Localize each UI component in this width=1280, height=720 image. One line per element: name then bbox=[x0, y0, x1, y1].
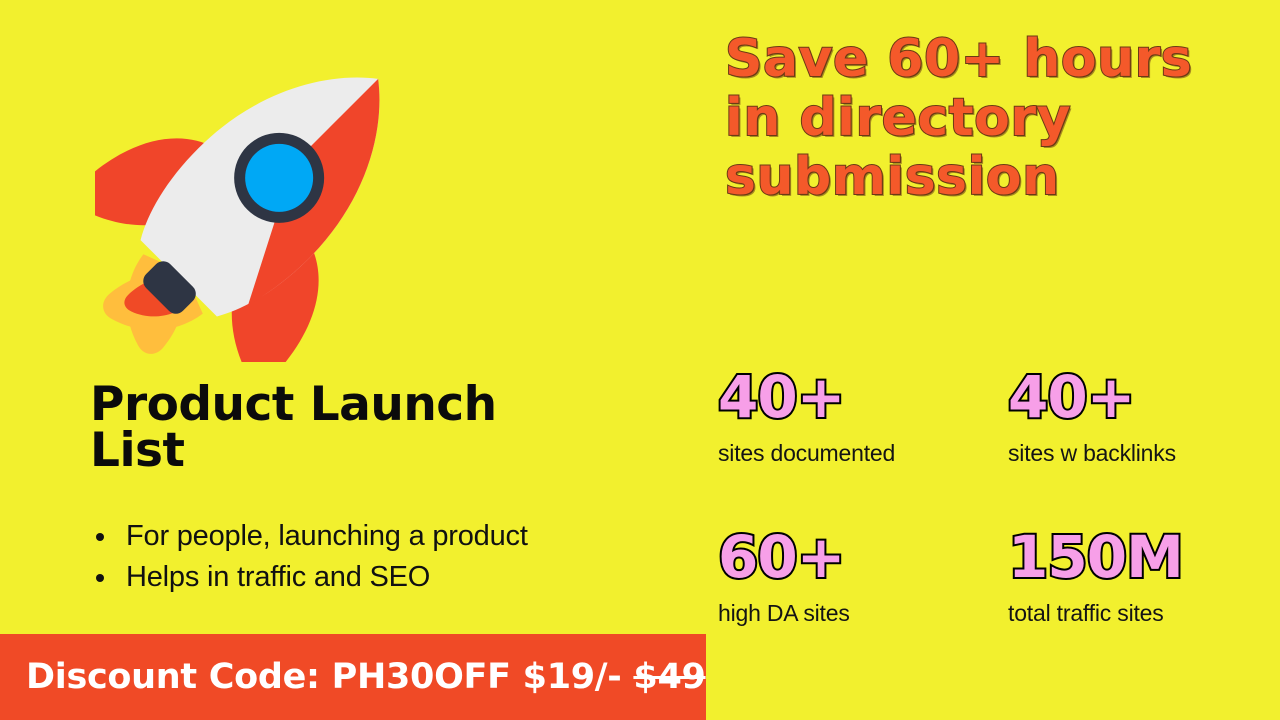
stat-total-traffic-sites: 150M total traffic sites bbox=[1008, 528, 1238, 627]
rocket-icon bbox=[95, 22, 435, 362]
bullet-icon bbox=[96, 574, 104, 582]
discount-code-label: Discount Code: PH30OFF bbox=[26, 657, 523, 697]
feature-label: For people, launching a product bbox=[126, 520, 528, 552]
discount-text: Discount Code: PH30OFF $19/- $49 bbox=[26, 657, 706, 697]
headline-text: Save 60+ hours in directory submission bbox=[725, 30, 1245, 206]
list-item: Helps in traffic and SEO bbox=[90, 557, 690, 598]
stat-value: 150M bbox=[1008, 528, 1238, 586]
discount-new-price: $19/- bbox=[523, 657, 634, 697]
page-title: Product Launch List bbox=[90, 382, 690, 474]
bullet-icon bbox=[96, 533, 104, 541]
list-item: For people, launching a product bbox=[90, 516, 690, 557]
stat-value: 60+ bbox=[718, 528, 1008, 586]
feature-label: Helps in traffic and SEO bbox=[126, 561, 430, 593]
stat-value: 40+ bbox=[1008, 368, 1238, 426]
feature-list: For people, launching a product Helps in… bbox=[90, 516, 690, 598]
stat-sites-with-backlinks: 40+ sites w backlinks bbox=[1008, 368, 1238, 528]
stat-value: 40+ bbox=[718, 368, 1008, 426]
stat-label: sites w backlinks bbox=[1008, 440, 1238, 467]
promo-poster: Product Launch List For people, launchin… bbox=[0, 0, 1280, 720]
left-content-column: Product Launch List For people, launchin… bbox=[90, 382, 690, 598]
stat-label: total traffic sites bbox=[1008, 600, 1238, 627]
discount-banner: Discount Code: PH30OFF $19/- $49 bbox=[0, 634, 706, 720]
stat-sites-documented: 40+ sites documented bbox=[718, 368, 1008, 528]
stat-high-da-sites: 60+ high DA sites bbox=[718, 528, 1008, 627]
discount-old-price: $49 bbox=[633, 657, 705, 697]
stat-label: high DA sites bbox=[718, 600, 1008, 627]
stat-label: sites documented bbox=[718, 440, 1008, 467]
stats-grid: 40+ sites documented 40+ sites w backlin… bbox=[718, 368, 1238, 627]
